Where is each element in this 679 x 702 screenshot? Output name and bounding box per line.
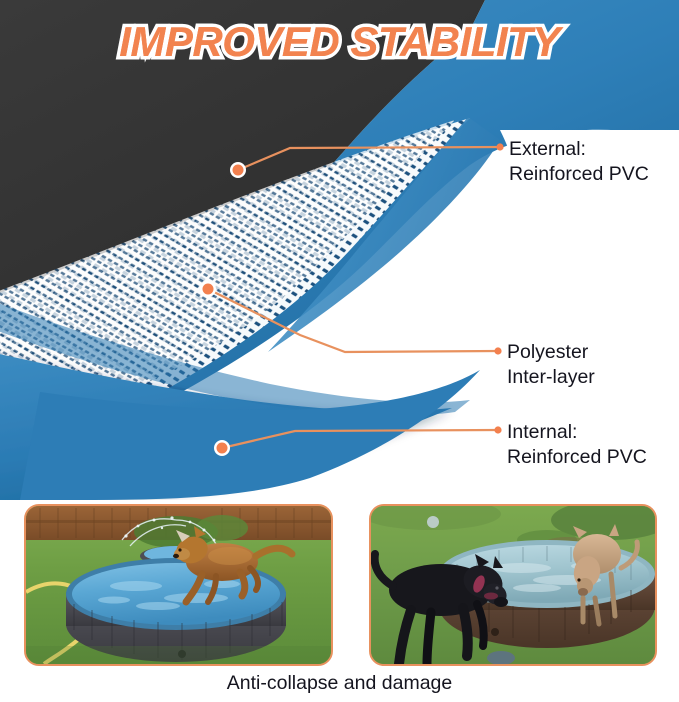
callout-external-line1: External: xyxy=(509,137,649,162)
infographic-page: IMPROVED STABILITY IMPROVED STABILITY Ex… xyxy=(0,0,679,702)
product-photo-left-image xyxy=(26,506,331,664)
photo-caption: Anti-collapse and damage xyxy=(0,672,679,695)
product-photo-left xyxy=(24,504,333,666)
callout-label-polyester: Polyester Inter-layer xyxy=(507,340,595,390)
callout-label-internal: Internal: Reinforced PVC xyxy=(507,420,647,470)
callout-polyester-line2: Inter-layer xyxy=(507,365,595,390)
callout-polyester-line1: Polyester xyxy=(507,340,595,365)
callout-external-line2: Reinforced PVC xyxy=(509,162,649,187)
callout-label-external: External: Reinforced PVC xyxy=(509,137,649,187)
product-photo-right-image xyxy=(371,506,655,664)
product-photo-right xyxy=(369,504,657,666)
page-title: IMPROVED STABILITY xyxy=(0,18,679,66)
callout-internal-line1: Internal: xyxy=(507,420,647,445)
callout-internal-line2: Reinforced PVC xyxy=(507,445,647,470)
